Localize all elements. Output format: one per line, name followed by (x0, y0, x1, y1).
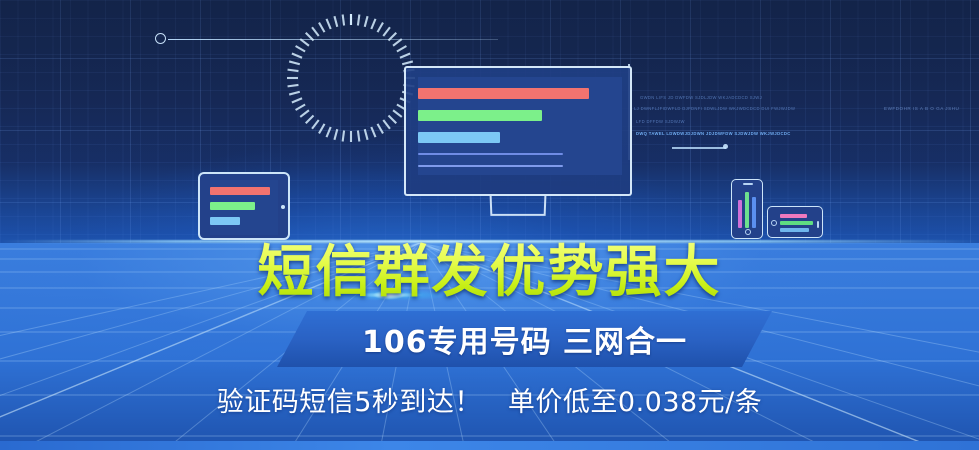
monitor-bar-line-2 (418, 165, 563, 167)
ribbon-label: 106专用号码 三网合一 (277, 311, 772, 367)
tablet-bar-red (210, 187, 270, 195)
phone-h-bar-pink (780, 214, 807, 218)
phone-home-button-icon (745, 229, 751, 235)
phone-landscape (767, 206, 823, 238)
phone-portrait (731, 179, 763, 239)
monitor-stand (490, 196, 547, 216)
headline-text: 短信群发优势强大 (0, 240, 979, 306)
phone-h-bar-green (780, 221, 813, 225)
tablet-device (198, 172, 290, 240)
subline-row: 验证码短信5秒到达！单价低至0.038元/条 (0, 380, 979, 419)
decor-underline (672, 147, 726, 149)
monitor-bar-green (418, 110, 542, 121)
monitor-bar-red (418, 88, 589, 99)
monitor-screen (418, 77, 622, 175)
phone-v-bar-pink (738, 200, 742, 228)
phone-landscape-screen (780, 212, 814, 233)
subline-left-text: 验证码短信5秒到达！ (217, 387, 482, 418)
tablet-bar-green (210, 202, 255, 210)
phone-portrait-screen (736, 189, 758, 228)
decor-text-line-3: LFD DFFDW SJDWJW (636, 118, 685, 127)
phone-v-bar-green (745, 192, 749, 228)
tablet-home-icon (281, 205, 285, 209)
decor-text-line-2: LJ DWNFLJFIDWFLD DJFDNFI SDWLJDW WKJWDCD… (634, 105, 795, 114)
phone-v-bar-blue (752, 197, 756, 228)
tablet-screen (210, 180, 278, 235)
node-circle-icon (155, 33, 166, 44)
promo-banner: GWDN LIFS JD DWFDW SJDLJDW WKJADCDCD SJW… (0, 0, 979, 450)
phone-h-bar-blue (780, 228, 809, 232)
phone-landscape-speaker-icon (817, 221, 819, 228)
decor-text-line-1: GWDN LIFS JD DWFDW SJDLJDW WKJADCDCD SJW… (640, 94, 762, 103)
decor-text-line-4: DWQ TAWEL LDWDWJDJDWN JDJDWFDW SJDWJDW W… (636, 130, 791, 139)
subline-right-text: 单价低至0.038元/条 (508, 387, 762, 418)
monitor-bar-blue (418, 132, 500, 143)
phone-speaker-icon (743, 183, 753, 185)
tablet-bar-blue (210, 217, 240, 225)
monitor-frame (404, 66, 632, 196)
phone-landscape-home-icon (771, 220, 777, 226)
radial-dial-icon (285, 12, 417, 144)
desktop-monitor (404, 66, 632, 218)
decor-dot-icon (723, 144, 728, 149)
bottom-accent-bar (0, 441, 979, 450)
decor-far-right-text: EWFDOHR IS A B O GA JSHU (884, 106, 959, 111)
monitor-bar-line-1 (418, 153, 563, 155)
